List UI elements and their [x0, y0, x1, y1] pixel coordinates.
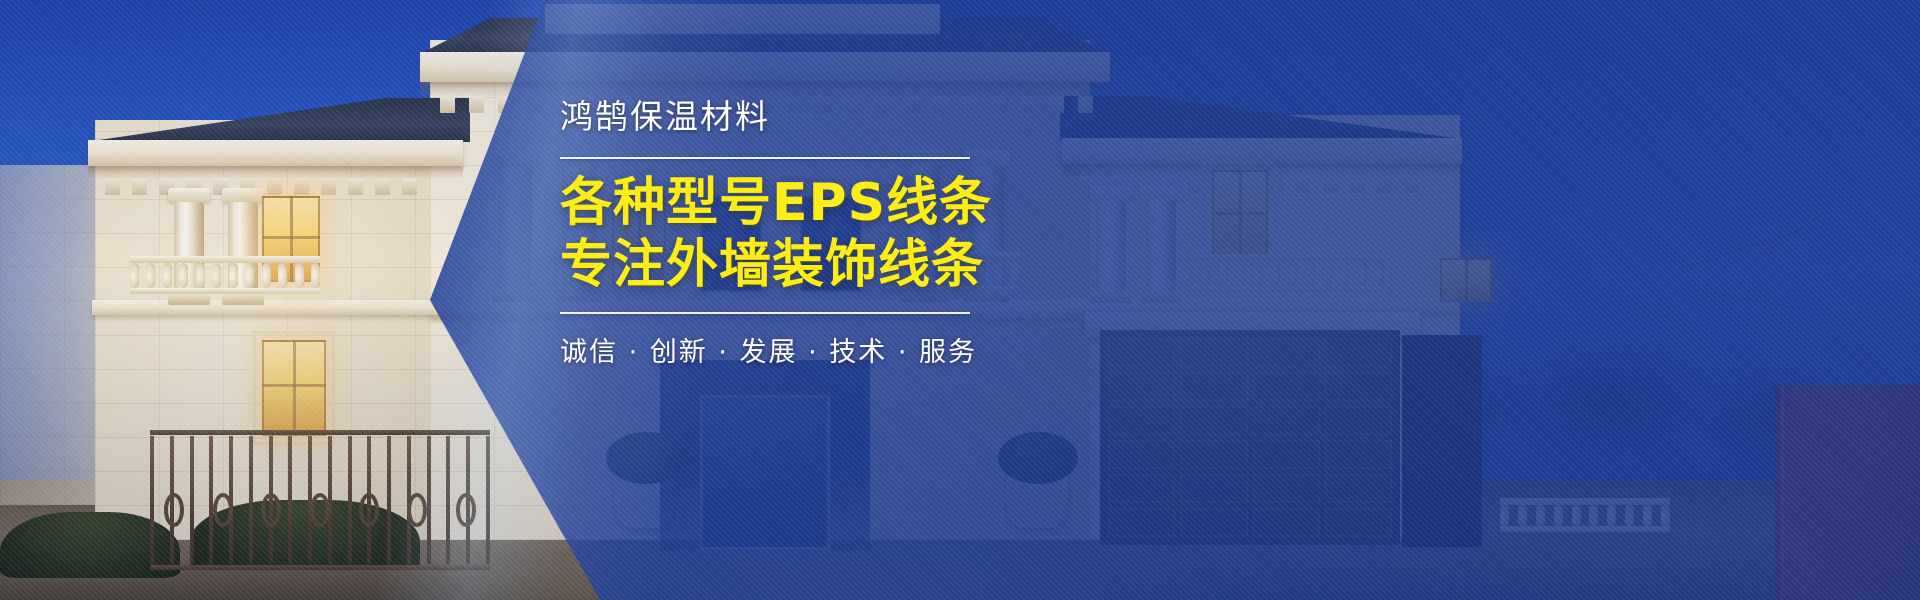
headline-line-2: 专注外墙装饰线条 [560, 237, 1030, 293]
baluster-posts [1184, 261, 1384, 286]
right-balustrade [1184, 254, 1384, 292]
left-cornice [88, 140, 463, 166]
balustrade-rail [1500, 498, 1670, 505]
entry-door [700, 395, 830, 550]
fence-rail-top [150, 430, 490, 435]
promo-banner: 鸿鹄保温材料 各种型号EPS线条 专注外墙装饰线条 诚信 · 创新 · 发展 ·… [0, 0, 1920, 600]
column-capital [168, 188, 210, 202]
window-surround [253, 331, 335, 445]
planter-shrub [606, 432, 686, 484]
garage-side-recess [1402, 335, 1482, 547]
values-tagline: 诚信 · 创新 · 发展 · 技术 · 服务 [560, 330, 1030, 369]
portico-column [498, 166, 532, 290]
column-capital [1090, 186, 1132, 200]
divider-above-headline [560, 157, 970, 159]
column-base [1090, 292, 1132, 303]
right-lower-balustrade [1500, 498, 1670, 532]
balustrade-rail [1184, 254, 1384, 261]
divider-below-headline [560, 312, 970, 314]
column-base [222, 294, 264, 305]
column-capital [492, 150, 538, 166]
red-boundary-wall [1775, 385, 1920, 600]
planter-shrub [998, 432, 1078, 484]
fence-rail-bottom [150, 565, 490, 570]
iron-fence [150, 430, 490, 570]
wing-column [1096, 200, 1126, 292]
fence-scroll-rings [150, 493, 490, 527]
balustrade-rail [1184, 286, 1384, 292]
window-mullion [1465, 258, 1468, 302]
center-cornice [420, 52, 1110, 82]
window-mullion [262, 236, 320, 239]
left-cornice-shadow [88, 166, 463, 178]
garage-panel-grid [1108, 338, 1392, 537]
column-capital [222, 188, 264, 202]
wing-column [1146, 200, 1176, 292]
baluster-posts [130, 263, 320, 288]
window-surround [1203, 161, 1277, 267]
headline-line-1: 各种型号EPS线条 [560, 175, 1030, 231]
roof-parapet-slab [545, 4, 940, 34]
left-balustrade [130, 256, 320, 294]
column-capital [1140, 186, 1182, 200]
balustrade-rail [130, 288, 320, 294]
center-cornice-shadow [420, 82, 1110, 96]
garage-door [1100, 330, 1400, 545]
left-midband [92, 300, 457, 315]
balustrade-rail [130, 256, 320, 263]
banner-copy: 鸿鹄保温材料 各种型号EPS线条 专注外墙装饰线条 诚信 · 创新 · 发展 ·… [560, 96, 1030, 369]
column-base [168, 294, 210, 305]
balustrade-rail [1500, 526, 1670, 532]
company-subtitle: 鸿鹄保温材料 [560, 96, 1030, 137]
column-base [1140, 292, 1182, 303]
baluster-posts [1500, 505, 1670, 526]
